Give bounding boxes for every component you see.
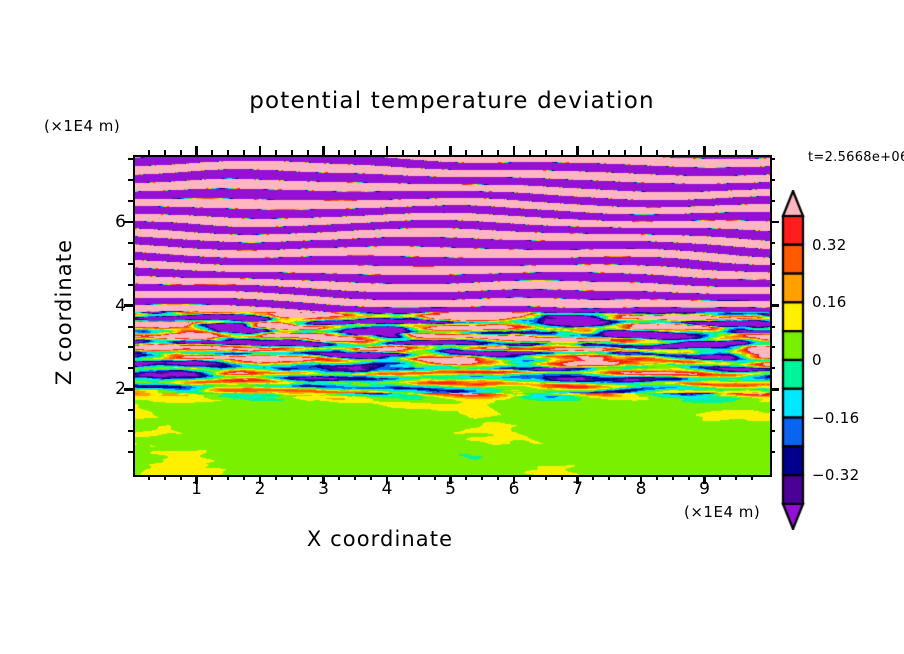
tick-mark [624,150,626,155]
x-tick-label: 7 [572,479,583,499]
tick-mark [180,475,182,480]
tick-mark [465,475,467,480]
x-tick-label: 1 [191,479,202,499]
tick-mark [402,475,404,480]
tick-mark [307,475,309,480]
tick-mark [770,242,775,244]
tick-mark [418,475,420,480]
tick-mark [703,146,706,155]
tick-mark [128,367,133,369]
tick-mark [529,150,531,155]
colorbar-tick-label: 0 [812,351,822,369]
tick-mark [386,146,389,155]
tick-mark [465,150,467,155]
x-tick-label: 8 [636,479,647,499]
tick-mark [770,158,775,160]
tick-mark [770,263,775,265]
tick-mark [770,200,775,202]
tick-mark [481,475,483,480]
plot-area [133,155,772,477]
y-tick-label: 6 [108,212,126,232]
tick-mark [770,326,775,328]
tick-mark [128,451,133,453]
tick-mark [576,146,579,155]
tick-mark [128,409,133,411]
tick-mark [688,150,690,155]
tick-mark [735,150,737,155]
tick-mark [128,263,133,265]
tick-mark [338,150,340,155]
colorbar-tick-label: 0.32 [812,236,847,254]
tick-mark [545,150,547,155]
tick-mark [719,150,721,155]
tick-mark [227,475,229,480]
tick-mark [497,475,499,480]
tick-mark [275,475,277,480]
tick-mark [770,430,775,432]
figure-canvas: potential temperature deviation (×1E4 m)… [0,0,904,654]
tick-mark [688,475,690,480]
x-tick-label: 3 [318,479,329,499]
tick-mark [770,451,775,453]
page-title: potential temperature deviation [0,88,904,114]
tick-mark [370,475,372,480]
tick-mark [128,158,133,160]
tick-mark [529,475,531,480]
tick-mark [291,150,293,155]
tick-mark [128,346,133,348]
tick-mark [770,221,779,224]
tick-mark [418,150,420,155]
x-tick-label: 5 [445,479,456,499]
tick-mark [148,150,150,155]
y-tick-label: 4 [108,296,126,316]
tick-mark [656,150,658,155]
tick-mark [608,150,610,155]
colorbar [781,190,811,530]
tick-mark [243,150,245,155]
tick-mark [672,475,674,480]
tick-mark [180,150,182,155]
tick-mark [128,430,133,432]
tick-mark [719,475,721,480]
x-tick-label: 4 [382,479,393,499]
tick-mark [275,150,277,155]
tick-mark [672,150,674,155]
tick-mark [545,475,547,480]
tick-mark [561,150,563,155]
tick-mark [128,326,133,328]
tick-mark [164,475,166,480]
tick-mark [128,200,133,202]
tick-mark [291,475,293,480]
tick-mark [770,304,779,307]
tick-mark [434,475,436,480]
tick-mark [561,475,563,480]
contour-field [135,157,770,475]
colorbar-tick-label: −0.32 [812,466,859,484]
tick-mark [259,146,262,155]
tick-mark [434,150,436,155]
tick-mark [164,150,166,155]
colorbar-tick-label: −0.16 [812,409,859,427]
tick-mark [640,146,643,155]
tick-mark [211,475,213,480]
tick-mark [624,475,626,480]
tick-mark [592,475,594,480]
tick-mark [751,475,753,480]
tick-mark [195,146,198,155]
tick-mark [770,346,775,348]
y-axis-title: Z coordinate [52,232,76,392]
x-axis-title: X coordinate [0,527,760,551]
tick-mark [735,475,737,480]
tick-mark [656,475,658,480]
tick-mark [592,150,594,155]
tick-mark [481,150,483,155]
x-tick-label: 9 [699,479,710,499]
x-axis-unit-label: (×1E4 m) [684,503,760,521]
tick-mark [497,150,499,155]
tick-mark [770,284,775,286]
y-axis-unit-label: (×1E4 m) [44,117,120,135]
tick-mark [770,179,775,181]
y-tick-label: 2 [108,379,126,399]
tick-mark [322,146,325,155]
tick-mark [513,146,516,155]
tick-mark [307,150,309,155]
x-tick-label: 2 [255,479,266,499]
colorbar-tick-label: 0.16 [812,293,847,311]
tick-mark [608,475,610,480]
colorbar-gradient [781,190,811,530]
tick-mark [243,475,245,480]
time-annotation: t=2.5668e+06 [808,150,904,165]
tick-mark [128,179,133,181]
tick-mark [338,475,340,480]
tick-mark [370,150,372,155]
x-tick-label: 6 [509,479,520,499]
tick-mark [128,242,133,244]
tick-mark [770,388,779,391]
tick-mark [770,409,775,411]
tick-mark [148,475,150,480]
tick-mark [128,284,133,286]
tick-mark [751,150,753,155]
tick-mark [354,475,356,480]
tick-mark [449,146,452,155]
tick-mark [211,150,213,155]
tick-mark [770,367,775,369]
tick-mark [354,150,356,155]
tick-mark [227,150,229,155]
tick-mark [402,150,404,155]
